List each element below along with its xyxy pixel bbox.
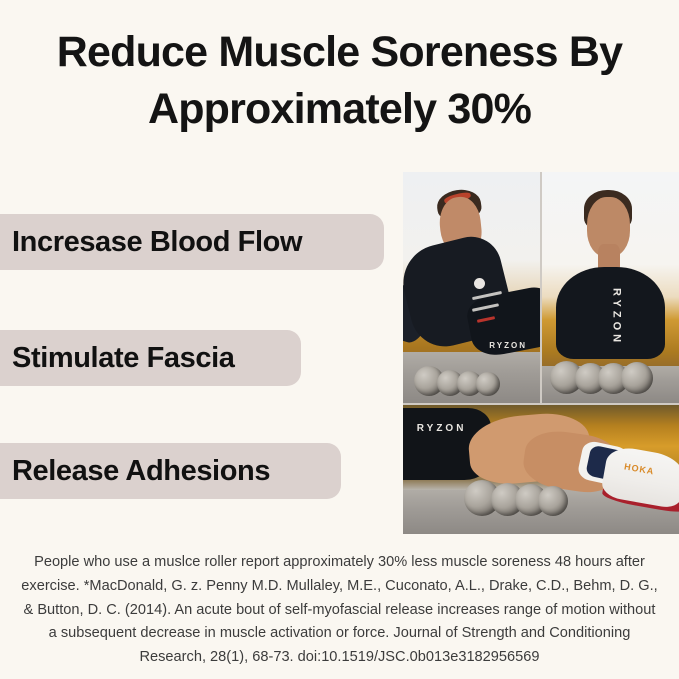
page-title: Reduce Muscle Soreness By Approximately … [14,24,665,138]
photo-cyclist-side-view: RYZON [403,172,540,403]
benefit-pill-fascia: Stimulate Fascia [0,330,301,386]
photo-legs-with-roller: RYZON HOKA [403,405,679,534]
kit-brand-text: RYZON [611,288,623,346]
kit-brand-text: RYZON [417,423,467,434]
benefit-pill-adhesions: Release Adhesions [0,443,341,499]
photo-cyclist-back-view: RYZON [542,172,679,403]
benefit-label: Stimulate Fascia [12,344,234,373]
citation-text: People who use a muslce roller report ap… [18,551,661,670]
kit-brand-text: RYZON [489,341,527,350]
benefit-label: Incresase Blood Flow [12,228,302,257]
benefit-pill-blood-flow: Incresase Blood Flow [0,214,384,270]
photo-collage: RYZON RYZON [403,172,679,534]
benefit-label: Release Adhesions [12,457,270,486]
product-benefits-infographic: Reduce Muscle Soreness By Approximately … [0,0,679,679]
